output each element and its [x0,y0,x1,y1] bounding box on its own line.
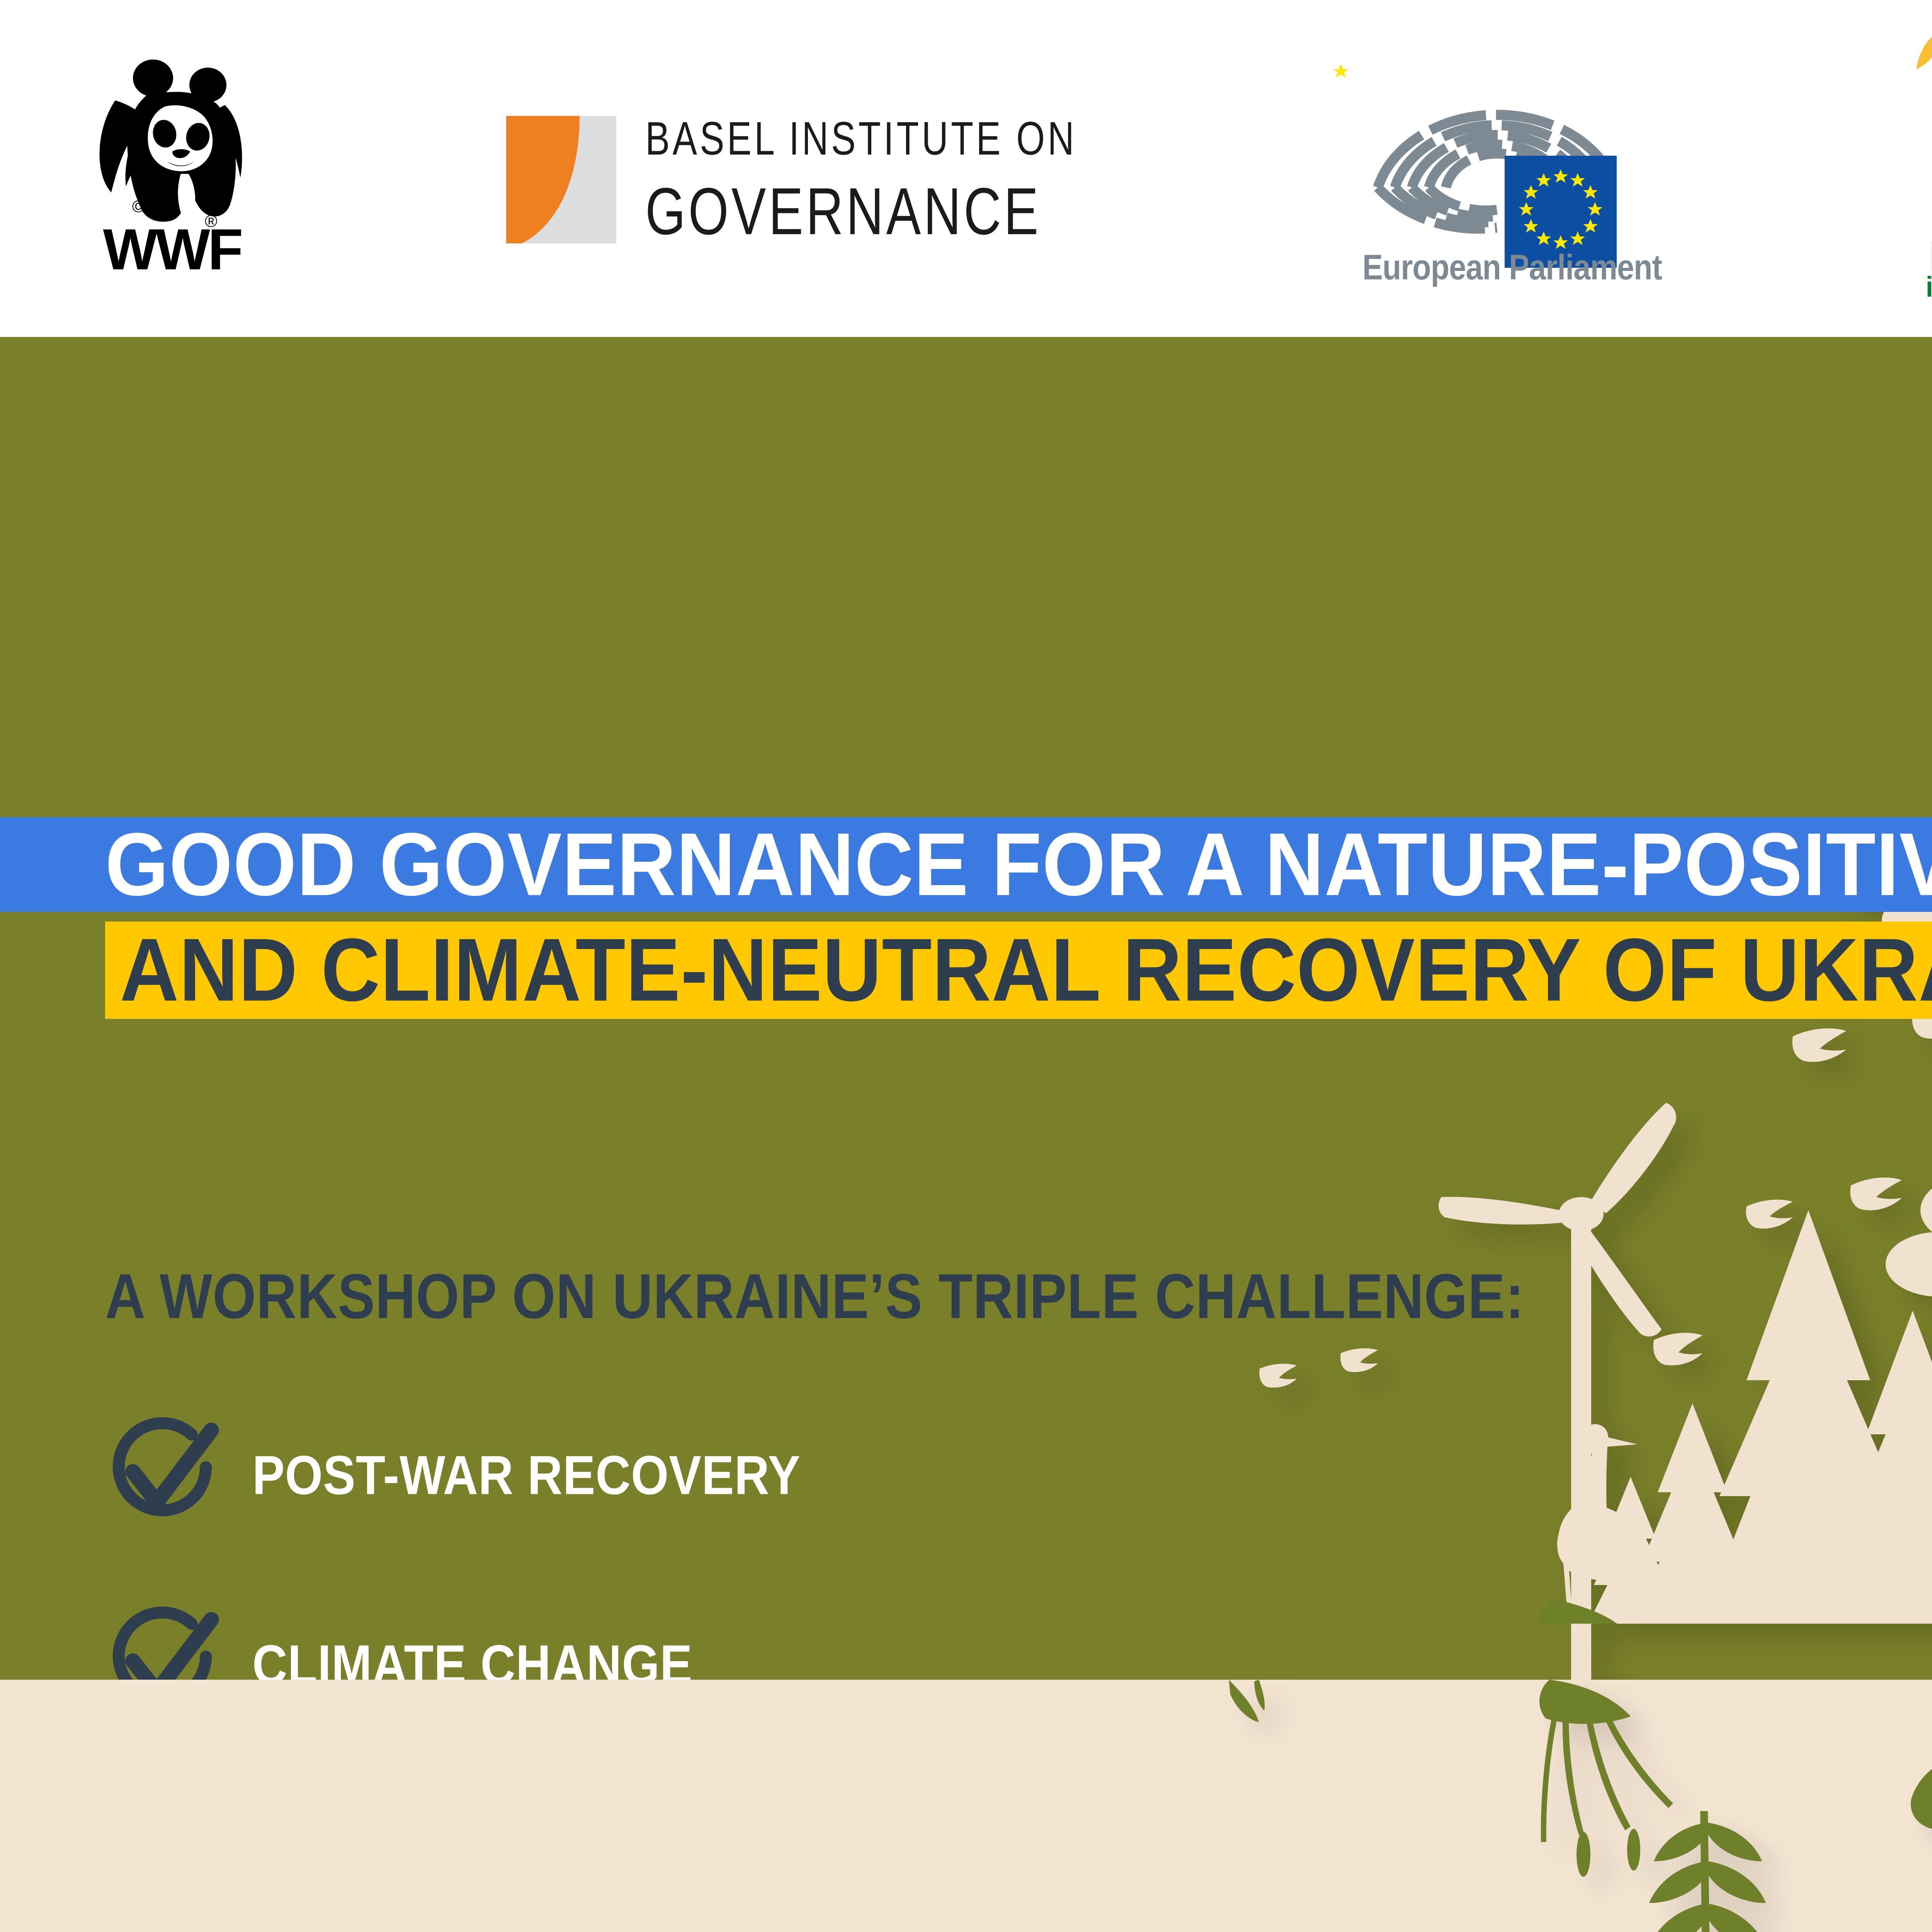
checklist-label: POST-WAR RECOVERY [252,1443,801,1506]
logo-header-bar: © ® WWF BASEL INSTITUTE ON GOVERNANCE [0,0,1932,337]
cream-canvas: Organised by the Basel Institute on Gove… [0,1680,1932,1932]
wwf-wordmark: WWF [89,220,255,278]
title-banner-line-1: GOOD GOVERNANCE FOR A NATURE-POSITIVE [0,817,1932,912]
logo-european-parliament: European Parliament [1341,71,1650,288]
basel-leaf-mark-icon [506,116,616,243]
check-circle-icon [102,1604,222,1680]
nature-illustration-lower-reflection [0,1680,1932,1932]
sunflower-icon [1917,70,1932,232]
check-circle-icon [102,1415,222,1535]
checklist-item: POST-WAR RECOVERY [102,1415,830,1535]
basel-line-1: BASEL INSTITUTE ON [645,111,1077,165]
title-banner-line-2: AND CLIMATE-NEUTRAL RECOVERY OF UKRAINE [105,922,1932,1019]
european-parliament-label: European Parliament [1362,247,1628,288]
greens-subline: im Europäischen Parlament [1926,270,1932,303]
checklist-label: CLIMATE CHANGE [252,1633,693,1680]
checklist-item: CLIMATE CHANGE [102,1604,716,1680]
title-line-1: GOOD GOVERNANCE FOR A NATURE-POSITIVE [105,813,1932,916]
logo-greens-efa: DIEGRÜNEN/EFA im Europäischen Parlament [1917,70,1932,290]
copyright-mark: © [132,197,145,216]
panda-icon [89,58,255,224]
basel-line-2: GOVERNANCE [645,173,1077,250]
subtitle: A WORKSHOP ON UKRAINE’S TRIPLE CHALLENGE… [105,1260,1524,1333]
european-parliament-hemicycle-icon [1341,71,1650,249]
logo-wwf: © ® WWF [89,58,255,290]
title-line-2: AND CLIMATE-NEUTRAL RECOVERY OF UKRAINE [120,919,1932,1022]
green-canvas: GOOD GOVERNANCE FOR A NATURE-POSITIVE AN… [0,337,1932,1680]
logo-basel-institute: BASEL INSTITUTE ON GOVERNANCE [506,116,1140,243]
poster-root: © ® WWF BASEL INSTITUTE ON GOVERNANCE [0,0,1932,1932]
